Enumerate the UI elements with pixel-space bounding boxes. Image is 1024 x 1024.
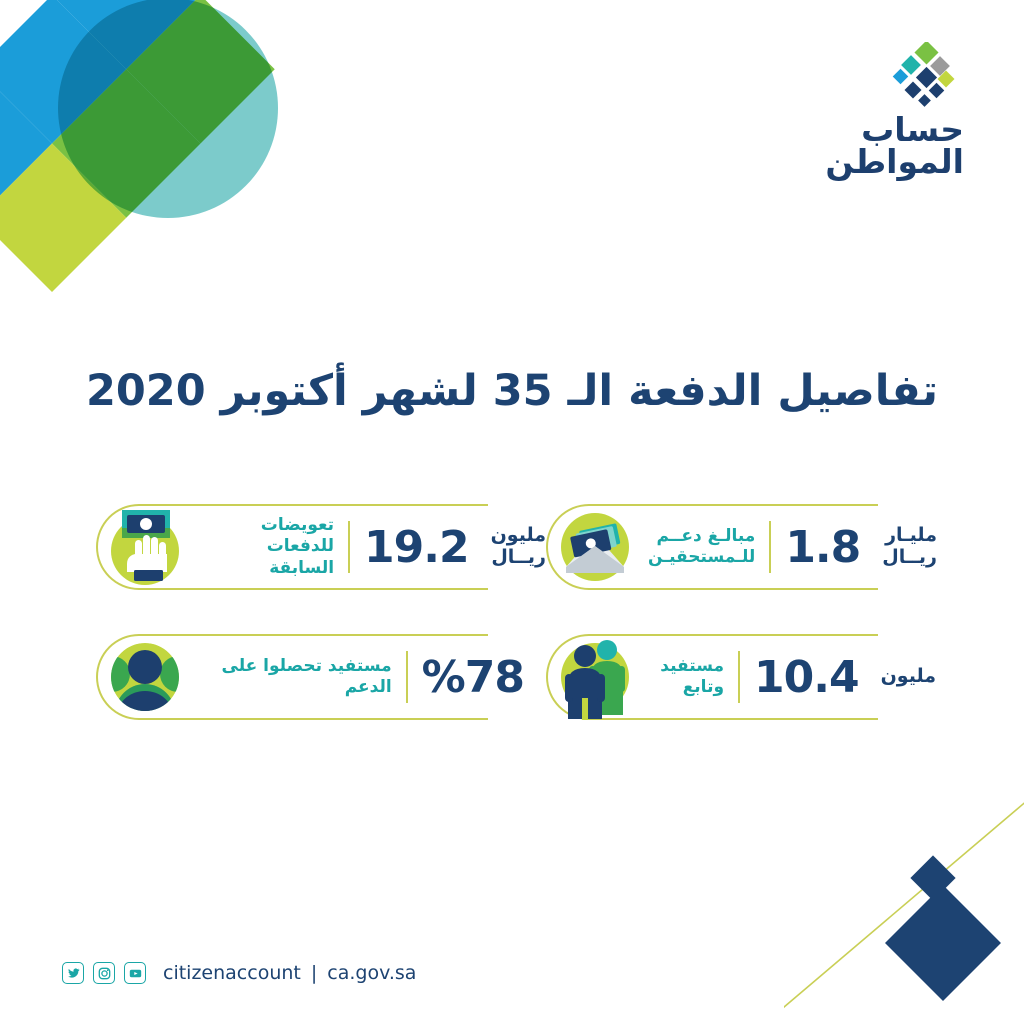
brand-logo: حساب المواطن — [825, 42, 964, 179]
logo-word-line2: المواطن — [825, 146, 964, 178]
footer: citizenaccount | ca.gov.sa — [62, 962, 416, 984]
stat-unit: مليـار ريــال — [874, 525, 937, 569]
stat-label: مستفيد تحصلوا على الدعم — [188, 656, 406, 699]
stat-value: 19.2 — [350, 522, 483, 573]
stat-value: 10.4 — [740, 652, 873, 703]
card-divider — [348, 521, 350, 573]
youtube-icon[interactable] — [124, 962, 146, 984]
bottom-right-geometric-decoration — [784, 794, 1024, 1024]
infographic-canvas: حساب المواطن تفاصيل الدفعة الـ 35 لشهر أ… — [0, 0, 1024, 1024]
citizen-account-diamond-mark — [890, 42, 960, 112]
twitter-icon[interactable] — [62, 962, 84, 984]
stat-unit: مليون ريــال — [483, 525, 546, 569]
stat-label: مستفيد وتابع — [638, 656, 738, 699]
stat-value: 1.8 — [771, 522, 874, 573]
hand-cash-icon — [102, 504, 188, 590]
top-left-geometric-decoration — [0, 0, 300, 300]
stat-label: مبالـغ دعــم للـمستحقيـن — [638, 526, 769, 569]
website-url[interactable]: ca.gov.sa — [327, 962, 416, 984]
two-people-icon — [552, 634, 638, 720]
stat-card-beneficiaries-and-dependents[interactable]: مستفيد وتابع 10.4 مليون — [546, 622, 936, 732]
stat-card-previous-payment-compensation[interactable]: تعويضات للدفعات السابقة 19.2 مليون ريــا… — [96, 492, 546, 602]
card-divider — [738, 651, 740, 703]
footer-text: citizenaccount | ca.gov.sa — [163, 962, 416, 984]
stat-label: تعويضات للدفعات السابقة — [188, 515, 348, 579]
stat-unit: مليون — [873, 666, 936, 688]
page-title: تفاصيل الدفعة الـ 35 لشهر أكتوبر 2020 — [0, 366, 1024, 416]
stat-value: %78 — [408, 652, 538, 703]
stats-grid: تعويضات للدفعات السابقة 19.2 مليون ريــا… — [96, 492, 936, 752]
stat-card-support-amounts[interactable]: مبالـغ دعــم للـمستحقيـن 1.8 مليـار ريــ… — [546, 492, 936, 602]
card-divider — [769, 521, 771, 573]
instagram-icon[interactable] — [93, 962, 115, 984]
logo-wordmark: حساب المواطن — [825, 114, 964, 179]
envelope-money-icon — [552, 504, 638, 590]
social-handle: citizenaccount — [163, 962, 301, 984]
card-divider — [406, 651, 408, 703]
footer-separator: | — [311, 962, 317, 984]
user-avatar-icon — [102, 634, 188, 720]
stat-card-beneficiaries-received-support[interactable]: مستفيد تحصلوا على الدعم %78 — [96, 622, 546, 732]
